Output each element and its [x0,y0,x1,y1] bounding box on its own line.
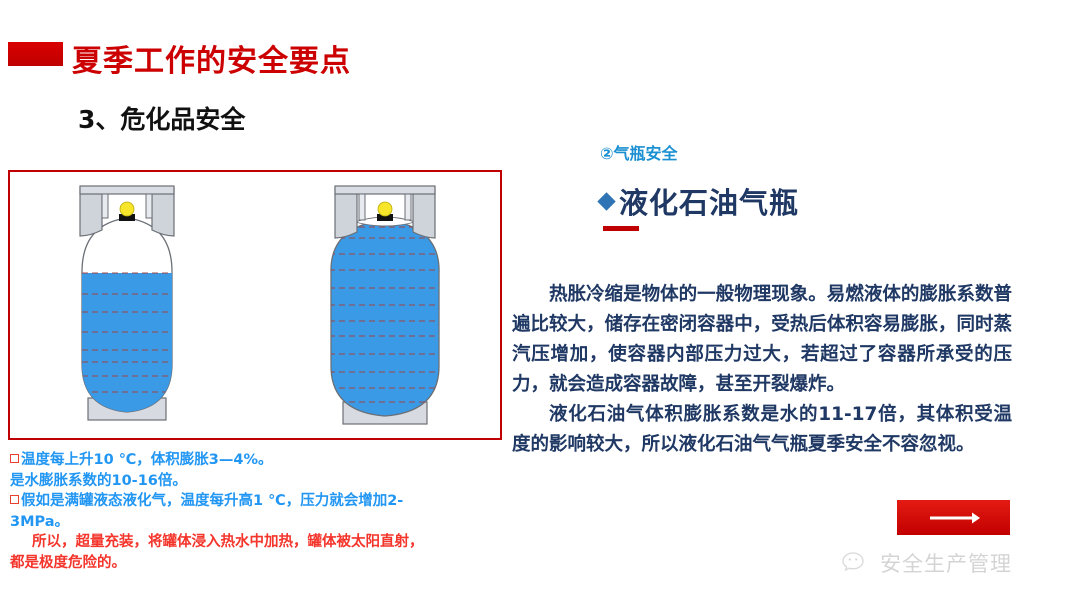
section-heading: 3、危化品安全 [78,100,245,136]
heading-underline [603,226,639,231]
panel-heading-row: 液化石油气瓶 [600,180,1020,222]
left-caption: 温度每上升10 ℃，体积膨胀3—4%。 是水膨胀系数的10-16倍。 假如是满罐… [10,450,530,573]
slide-canvas: 夏季工作的安全要点 3、危化品安全 [0,0,1080,608]
subsection-label: ②气瓶安全 [600,140,1020,164]
caption-line-3: 假如是满罐液态液化气，温度每升高1 ℃，压力就会增加2- [10,491,530,512]
caption-line-4: 3MPa。 [10,512,530,533]
illustration-frame [8,170,502,440]
caption-line-2: 是水膨胀系数的10-16倍。 [10,471,530,492]
square-bullet-icon [10,495,19,504]
cylinder-normal-fill [62,172,192,438]
right-arrow-icon [928,511,980,525]
watermark-text: 安全生产管理 [880,548,1012,578]
caption-line-6: 都是极度危险的。 [10,553,530,574]
right-panel: ②气瓶安全 液化石油气瓶 [600,140,1020,231]
valve-knob-icon [119,202,135,221]
panel-heading: 液化石油气瓶 [619,180,799,222]
wechat-icon [842,551,872,575]
caption-line-5: 所以，超量充装，将罐体浸入热水中加热，罐体被太阳直射， [10,532,530,553]
square-bullet-icon [10,454,19,463]
diamond-bullet-icon [597,192,615,210]
valve-knob-icon [377,202,393,221]
next-slide-button[interactable] [897,500,1010,535]
body-paragraph-2: 液化石油气体积膨胀系数是水的11-17倍，其体积受温度的影响较大，所以液化石油气… [512,400,1012,460]
page-title: 夏季工作的安全要点 [72,36,351,80]
title-accent-bar [8,42,63,66]
body-paragraph-1: 热胀冷缩是物体的一般物理现象。易燃液体的膨胀系数普遍比较大，储存在密闭容器中，受… [512,280,1012,400]
watermark: 安全生产管理 [842,548,1012,578]
cylinder-overfilled [315,172,455,438]
body-copy: 热胀冷缩是物体的一般物理现象。易燃液体的膨胀系数普遍比较大，储存在密闭容器中，受… [512,280,1012,460]
caption-line-1: 温度每上升10 ℃，体积膨胀3—4%。 [10,450,530,471]
